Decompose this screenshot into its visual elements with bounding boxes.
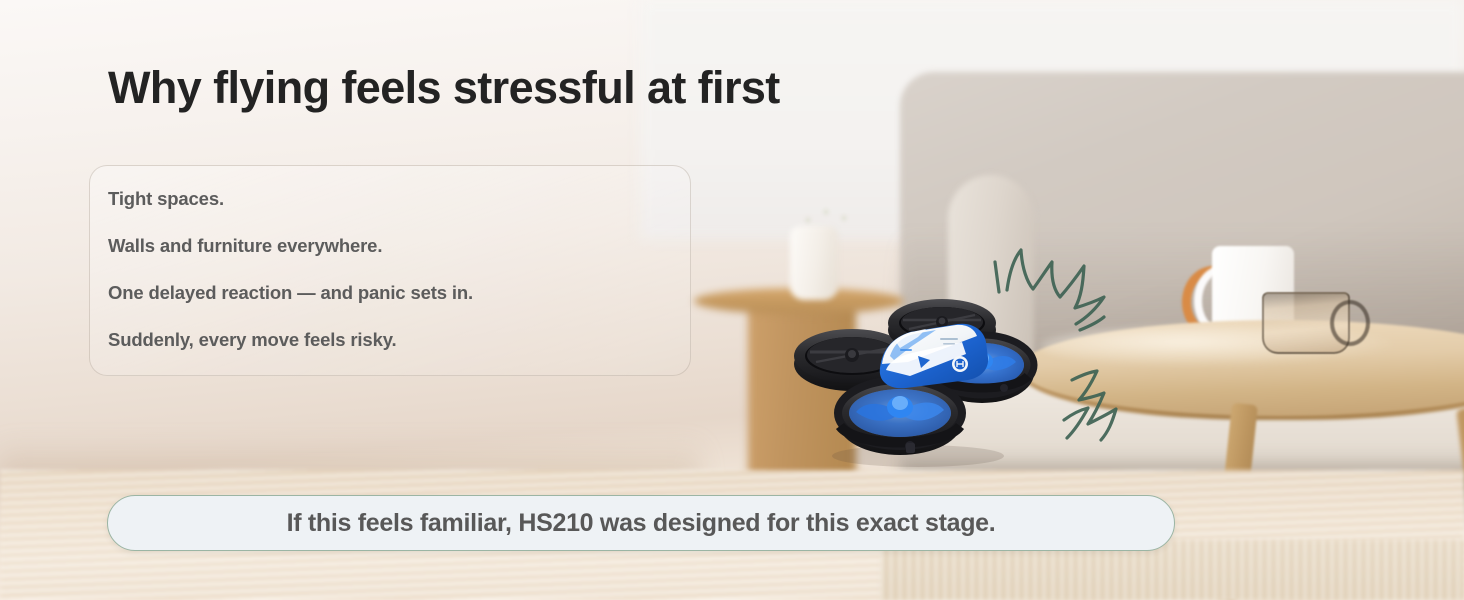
pain-point-4: Suddenly, every move feels risky. [90,329,690,351]
pain-point-2: Walls and furniture everywhere. [90,235,690,257]
cta-banner: If this feels familiar, HS210 was design… [107,495,1175,551]
banner-stage: Why flying feels stressful at first Tigh… [0,0,1464,600]
pain-points-card: Tight spaces. Walls and furniture everyw… [89,165,691,376]
pain-point-3: One delayed reaction — and panic sets in… [90,282,690,304]
pain-point-1: Tight spaces. [90,188,690,210]
propeller-guard-front-left [838,380,962,455]
page-title: Why flying feels stressful at first [108,62,780,114]
cta-banner-text: If this feels familiar, HS210 was design… [287,509,996,538]
glass-cup-handle [1330,300,1370,346]
hs210-drone [790,280,1040,470]
vase-sprig [800,206,860,232]
